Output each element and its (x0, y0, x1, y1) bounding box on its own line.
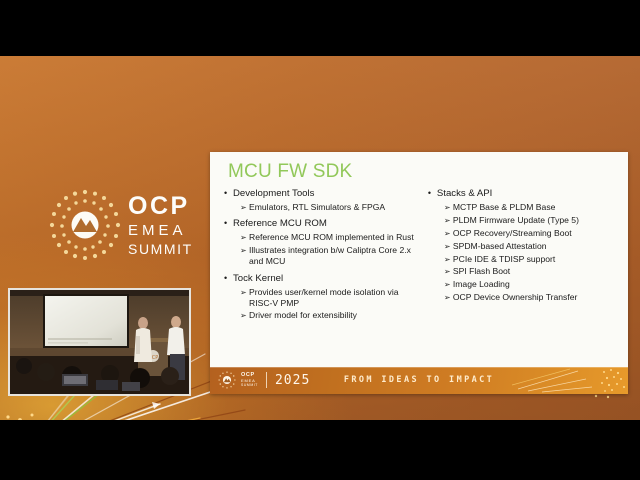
arrow-bullet-icon: ➢ (444, 242, 453, 252)
bullet-subitem: ➢ PCIe IDE & TDISP support (428, 254, 618, 265)
bullet-subitem: ➢ Emulators, RTL Simulators & FPGA (224, 202, 422, 213)
logo-wordmark: OCP EMEA SUMMIT (128, 194, 193, 256)
starburst-dots-icon (0, 411, 96, 420)
arrow-bullet-icon: ➢ (444, 293, 453, 303)
bullet-subitem-label: OCP Recovery/Streaming Boot (453, 228, 618, 239)
arrow-bullet-icon: ➢ (444, 203, 453, 213)
arrow-bullet-icon: ➢ (240, 203, 249, 213)
arrow-bullet-icon: ➢ (444, 216, 453, 226)
footer-decorative-rays (508, 367, 628, 394)
bullet-heading-label: Reference MCU ROM (233, 218, 422, 230)
logo-text-emea: EMEA (128, 223, 187, 238)
bullet-heading: • Development Tools (224, 188, 422, 200)
bullet-subitem: ➢ Image Loading (428, 279, 618, 290)
ocp-emea-summit-logo: OCP EMEA SUMMIT (48, 184, 198, 266)
screenshot-stage: OCP EMEA SUMMIT (0, 0, 640, 480)
bullet-group: • Tock Kernel ➢ Provides user/kernel mod… (224, 273, 422, 322)
bullet-group: • Reference MCU ROM ➢ Reference MCU ROM … (224, 218, 422, 267)
bullet-subitem: ➢ SPDM-based Attestation (428, 241, 618, 252)
letterbox-top (0, 0, 640, 56)
logo-text-ocp: OCP (128, 194, 190, 219)
letterbox-bottom (0, 420, 640, 480)
bullet-heading: • Stacks & API (428, 188, 618, 200)
bullet-subitem: ➢ MCTP Base & PLDM Base (428, 202, 618, 213)
presentation-room-photo: OCP (10, 290, 189, 394)
bullet-subitem-label: Image Loading (453, 279, 618, 290)
arrow-bullet-icon: ➢ (240, 288, 249, 298)
bullet-subitem: ➢ OCP Recovery/Streaming Boot (428, 228, 618, 239)
bullet-heading: • Reference MCU ROM (224, 218, 422, 230)
bullet-group: • Development Tools ➢ Emulators, RTL Sim… (224, 188, 422, 213)
arrow-bullet-icon: ➢ (444, 229, 453, 239)
bullet-subitem: ➢ Illustrates integration b/w Caliptra C… (224, 245, 422, 267)
bullet-subitem-label: SPI Flash Boot (453, 266, 618, 277)
bullet-group: • Stacks & API ➢ MCTP Base & PLDM Base ➢… (428, 188, 618, 304)
bullet-heading: • Tock Kernel (224, 273, 422, 285)
arrow-bullet-icon: ➢ (240, 233, 249, 243)
bullet-dot-icon: • (224, 188, 233, 199)
bullet-subitem: ➢ PLDM Firmware Update (Type 5) (428, 215, 618, 226)
bullet-heading-label: Development Tools (233, 188, 422, 200)
arrow-bullet-icon: ➢ (444, 280, 453, 290)
arrow-bullet-icon: ➢ (240, 311, 249, 321)
slide-content: MCU FW SDK • Development Tools ➢ Emulato… (210, 152, 628, 367)
presenter-video-thumbnail[interactable]: OCP (8, 288, 191, 396)
bullet-subitem-label: Driver model for extensibility (249, 310, 422, 321)
stage-backdrop: OCP EMEA SUMMIT (0, 56, 640, 420)
bullet-dot-icon: • (224, 218, 233, 229)
bullet-subitem: ➢ Reference MCU ROM implemented in Rust (224, 232, 422, 243)
slide-column-left: • Development Tools ➢ Emulators, RTL Sim… (224, 188, 428, 327)
slide-footer-bar: OCP EMEA SUMMIT 2025 FROM IDEAS TO IMPAC… (210, 367, 628, 394)
bullet-subitem-label: Illustrates integration b/w Caliptra Cor… (249, 245, 422, 267)
bullet-subitem-label: MCTP Base & PLDM Base (453, 202, 618, 213)
mountain-sunburst-icon (48, 188, 122, 262)
logo-text-summit: SUMMIT (128, 242, 193, 256)
bullet-subitem: ➢ OCP Device Ownership Transfer (428, 292, 618, 303)
bullet-subitem-label: Provides user/kernel mode isolation via … (249, 287, 422, 309)
bullet-subitem: ➢ Driver model for extensibility (224, 310, 422, 321)
presentation-slide[interactable]: MCU FW SDK • Development Tools ➢ Emulato… (210, 152, 628, 394)
bullet-subitem: ➢ Provides user/kernel mode isolation vi… (224, 287, 422, 309)
bullet-subitem-label: OCP Device Ownership Transfer (453, 292, 618, 303)
bullet-subitem-label: Emulators, RTL Simulators & FPGA (249, 202, 422, 213)
arrow-bullet-icon: ➢ (444, 267, 453, 277)
arrow-bullet-icon: ➢ (240, 246, 249, 256)
bullet-subitem-label: PLDM Firmware Update (Type 5) (453, 215, 618, 226)
bullet-subitem-label: PCIe IDE & TDISP support (453, 254, 618, 265)
bullet-heading-label: Tock Kernel (233, 273, 422, 285)
slide-column-right: • Stacks & API ➢ MCTP Base & PLDM Base ➢… (428, 188, 618, 327)
slide-title: MCU FW SDK (228, 162, 618, 181)
arrow-bullet-icon: ➢ (444, 255, 453, 265)
bullet-subitem-label: SPDM-based Attestation (453, 241, 618, 252)
bullet-dot-icon: • (224, 273, 233, 284)
slide-columns: • Development Tools ➢ Emulators, RTL Sim… (224, 188, 618, 327)
bullet-subitem-label: Reference MCU ROM implemented in Rust (249, 232, 422, 243)
bullet-dot-icon: • (428, 188, 437, 199)
bullet-heading-label: Stacks & API (437, 188, 618, 200)
bullet-subitem: ➢ SPI Flash Boot (428, 266, 618, 277)
